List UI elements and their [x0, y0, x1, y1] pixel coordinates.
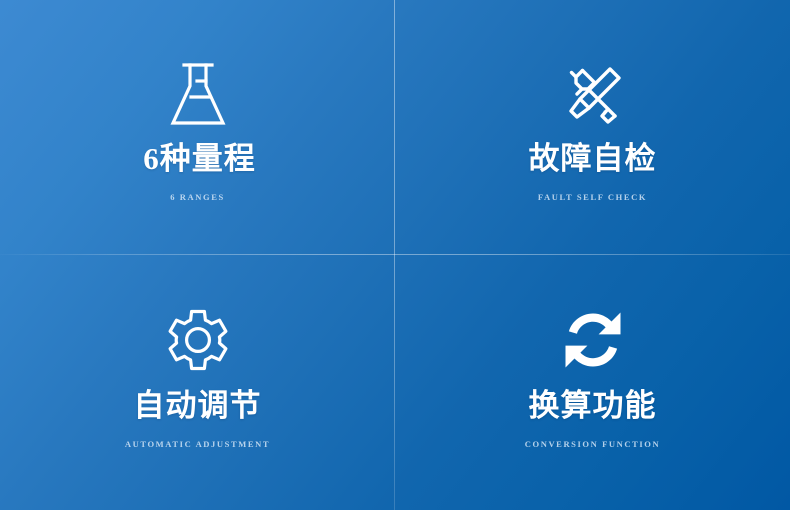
feature-title: 故障自检 [529, 142, 657, 176]
feature-grid: 6种量程 6 RANGES 故障自检 FAULT SELF CHECK [0, 0, 790, 510]
refresh-sync-icon [562, 303, 624, 377]
feature-subtitle: AUTOMATIC ADJUSTMENT [125, 439, 270, 449]
feature-title: 换算功能 [529, 389, 657, 423]
feature-subtitle: CONVERSION FUNCTION [525, 439, 660, 449]
flask-icon [165, 58, 231, 132]
wrench-screwdriver-icon [558, 58, 628, 132]
feature-tile-adjustment[interactable]: 自动调节 AUTOMATIC ADJUSTMENT [0, 255, 395, 510]
feature-tile-conversion[interactable]: 换算功能 CONVERSION FUNCTION [395, 255, 790, 510]
feature-tile-selfcheck[interactable]: 故障自检 FAULT SELF CHECK [395, 0, 790, 255]
feature-tile-ranges[interactable]: 6种量程 6 RANGES [0, 0, 395, 255]
feature-title: 6种量程 [143, 142, 256, 176]
gear-icon [164, 303, 232, 377]
feature-title: 自动调节 [134, 389, 262, 423]
feature-subtitle: 6 RANGES [170, 192, 225, 202]
feature-subtitle: FAULT SELF CHECK [538, 192, 647, 202]
